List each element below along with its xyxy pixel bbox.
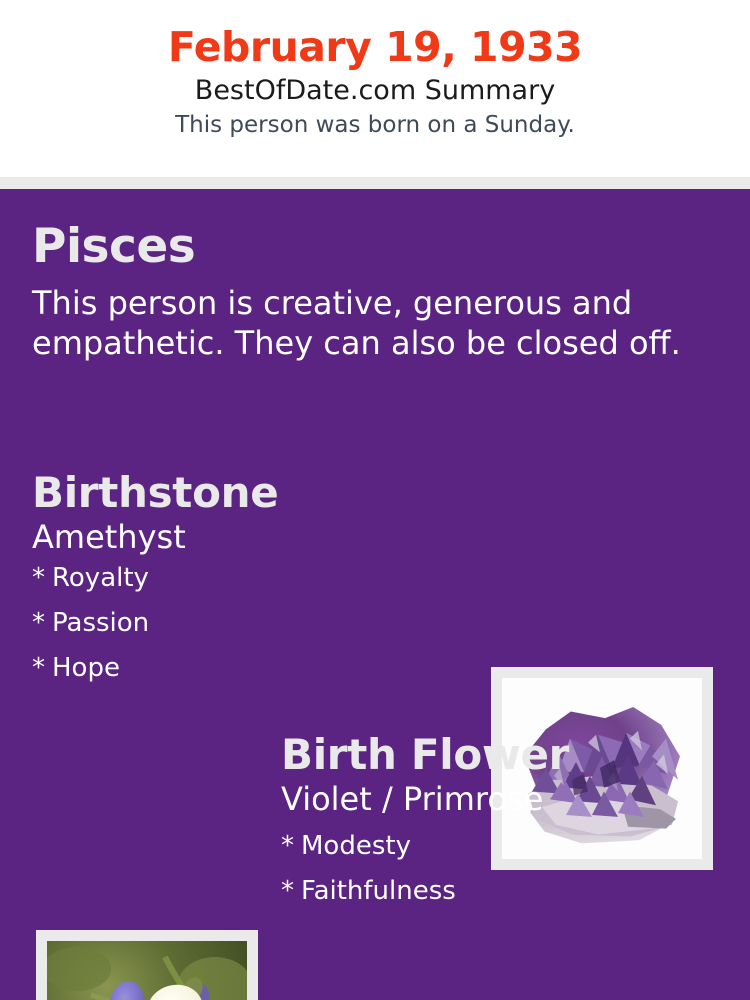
birthflower-trait-label: Modesty bbox=[301, 831, 411, 861]
asterisk-bullet-icon: * bbox=[32, 655, 52, 681]
birthflower-photo-frame bbox=[36, 930, 258, 1000]
list-item: *Faithfulness bbox=[281, 878, 721, 904]
list-item: *Royalty bbox=[32, 565, 472, 591]
birthstone-heading: Birthstone bbox=[32, 472, 472, 514]
birthflower-photo bbox=[47, 941, 247, 1000]
birthstone-trait-list: *Royalty *Passion *Hope bbox=[32, 565, 472, 681]
details-panel: Pisces This person is creative, generous… bbox=[0, 189, 750, 1000]
birthflower-section: Birth Flower Violet / Primrose *Modesty … bbox=[281, 734, 721, 923]
list-item: *Hope bbox=[32, 655, 472, 681]
birthstone-name: Amethyst bbox=[32, 520, 472, 555]
zodiac-sign-title: Pisces bbox=[32, 223, 712, 270]
asterisk-bullet-icon: * bbox=[281, 878, 301, 904]
birthflower-heading: Birth Flower bbox=[281, 734, 721, 776]
birthstone-trait-label: Hope bbox=[52, 653, 120, 683]
birthstone-trait-label: Passion bbox=[52, 608, 149, 638]
birthstone-trait-label: Royalty bbox=[52, 563, 149, 593]
born-day-note: This person was born on a Sunday. bbox=[0, 112, 750, 140]
zodiac-section: Pisces This person is creative, generous… bbox=[32, 223, 712, 363]
zodiac-description: This person is creative, generous and em… bbox=[32, 284, 702, 363]
site-summary-label: BestOfDate.com Summary bbox=[0, 75, 750, 107]
birthflower-trait-list: *Modesty *Faithfulness bbox=[281, 833, 721, 904]
asterisk-bullet-icon: * bbox=[281, 833, 301, 859]
birthflower-name: Violet / Primrose bbox=[281, 782, 721, 817]
header-divider bbox=[0, 177, 750, 189]
birthflower-trait-label: Faithfulness bbox=[301, 876, 456, 906]
list-item: *Modesty bbox=[281, 833, 721, 859]
page-title-date: February 19, 1933 bbox=[0, 26, 750, 69]
violet-primrose-illustration bbox=[47, 941, 247, 1000]
birthstone-section: Birthstone Amethyst *Royalty *Passion *H… bbox=[32, 472, 472, 700]
page-header: February 19, 1933 BestOfDate.com Summary… bbox=[0, 0, 750, 177]
asterisk-bullet-icon: * bbox=[32, 610, 52, 636]
asterisk-bullet-icon: * bbox=[32, 565, 52, 591]
summary-page: February 19, 1933 BestOfDate.com Summary… bbox=[0, 0, 750, 1000]
list-item: *Passion bbox=[32, 610, 472, 636]
